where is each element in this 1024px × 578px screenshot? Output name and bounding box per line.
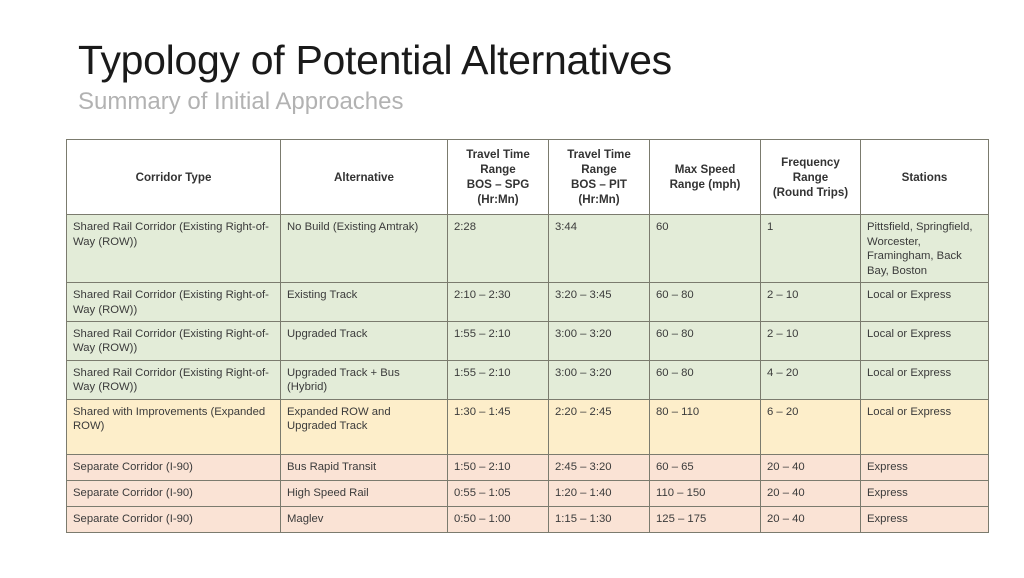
cell-max-speed: 60: [650, 215, 761, 283]
cell-alternative: Expanded ROW and Upgraded Track: [281, 399, 448, 454]
cell-corridor-type: Separate Corridor (I-90): [67, 480, 281, 506]
cell-max-speed: 60 – 80: [650, 360, 761, 399]
column-header-travel-time-bos-pit: Travel Time Range BOS – PIT (Hr:Mn): [549, 140, 650, 215]
table-header-row: Corridor Type Alternative Travel Time Ra…: [67, 140, 989, 215]
table-body: Shared Rail Corridor (Existing Right-of-…: [67, 215, 989, 533]
cell-max-speed: 110 – 150: [650, 480, 761, 506]
cell-frequency: 4 – 20: [761, 360, 861, 399]
table-header: Corridor Type Alternative Travel Time Ra…: [67, 140, 989, 215]
cell-travel-time-bos-spg: 0:55 – 1:05: [448, 480, 549, 506]
header-line: Travel Time: [553, 147, 645, 162]
column-header-alternative: Alternative: [281, 140, 448, 215]
header-line: Frequency: [765, 155, 856, 170]
table-row: Shared Rail Corridor (Existing Right-of-…: [67, 215, 989, 283]
cell-alternative: Upgraded Track + Bus (Hybrid): [281, 360, 448, 399]
header-line: Max Speed: [654, 162, 756, 177]
cell-travel-time-bos-spg: 2:28: [448, 215, 549, 283]
cell-alternative: High Speed Rail: [281, 480, 448, 506]
cell-corridor-type: Shared Rail Corridor (Existing Right-of-…: [67, 283, 281, 322]
cell-corridor-type: Separate Corridor (I-90): [67, 454, 281, 480]
header-line: BOS – SPG: [452, 177, 544, 192]
table-row: Shared Rail Corridor (Existing Right-of-…: [67, 360, 989, 399]
cell-stations: Express: [861, 454, 989, 480]
cell-stations: Local or Express: [861, 360, 989, 399]
page-title: Typology of Potential Alternatives: [78, 38, 672, 82]
header-line: BOS – PIT: [553, 177, 645, 192]
cell-stations: Local or Express: [861, 399, 989, 454]
cell-frequency: 2 – 10: [761, 321, 861, 360]
cell-travel-time-bos-spg: 1:30 – 1:45: [448, 399, 549, 454]
header-line: Range: [452, 162, 544, 177]
header-line: Range: [765, 170, 856, 185]
cell-alternative: No Build (Existing Amtrak): [281, 215, 448, 283]
cell-alternative: Upgraded Track: [281, 321, 448, 360]
header-line: Corridor Type: [71, 170, 276, 185]
column-header-stations: Stations: [861, 140, 989, 215]
cell-travel-time-bos-pit: 3:20 – 3:45: [549, 283, 650, 322]
table-row: Shared Rail Corridor (Existing Right-of-…: [67, 321, 989, 360]
table-row: Shared with Improvements (Expanded ROW) …: [67, 399, 989, 454]
header-line: Alternative: [285, 170, 443, 185]
header-line: Range (mph): [654, 177, 756, 192]
cell-corridor-type: Shared Rail Corridor (Existing Right-of-…: [67, 321, 281, 360]
header-line: (Hr:Mn): [452, 192, 544, 207]
cell-stations: Express: [861, 480, 989, 506]
header-line: (Hr:Mn): [553, 192, 645, 207]
cell-stations: Local or Express: [861, 283, 989, 322]
cell-max-speed: 80 – 110: [650, 399, 761, 454]
cell-travel-time-bos-pit: 2:45 – 3:20: [549, 454, 650, 480]
cell-corridor-type: Shared Rail Corridor (Existing Right-of-…: [67, 215, 281, 283]
cell-max-speed: 60 – 80: [650, 283, 761, 322]
column-header-max-speed: Max Speed Range (mph): [650, 140, 761, 215]
cell-travel-time-bos-spg: 1:55 – 2:10: [448, 321, 549, 360]
slide: Typology of Potential Alternatives Summa…: [0, 0, 1024, 578]
cell-frequency: 2 – 10: [761, 283, 861, 322]
typology-table-container: Corridor Type Alternative Travel Time Ra…: [66, 139, 988, 533]
cell-max-speed: 60 – 80: [650, 321, 761, 360]
cell-corridor-type: Shared Rail Corridor (Existing Right-of-…: [67, 360, 281, 399]
cell-travel-time-bos-pit: 1:20 – 1:40: [549, 480, 650, 506]
table-row: Separate Corridor (I-90) High Speed Rail…: [67, 480, 989, 506]
cell-corridor-type: Shared with Improvements (Expanded ROW): [67, 399, 281, 454]
cell-frequency: 1: [761, 215, 861, 283]
cell-stations: Pittsfield, Springfield, Worcester, Fram…: [861, 215, 989, 283]
column-header-corridor-type: Corridor Type: [67, 140, 281, 215]
header-line: Stations: [865, 170, 984, 185]
cell-alternative: Existing Track: [281, 283, 448, 322]
cell-travel-time-bos-spg: 2:10 – 2:30: [448, 283, 549, 322]
column-header-frequency: Frequency Range (Round Trips): [761, 140, 861, 215]
cell-frequency: 20 – 40: [761, 454, 861, 480]
cell-travel-time-bos-pit: 2:20 – 2:45: [549, 399, 650, 454]
cell-travel-time-bos-spg: 1:55 – 2:10: [448, 360, 549, 399]
title-block: Typology of Potential Alternatives Summa…: [78, 38, 672, 117]
typology-table: Corridor Type Alternative Travel Time Ra…: [66, 139, 989, 533]
table-row: Shared Rail Corridor (Existing Right-of-…: [67, 283, 989, 322]
header-line: Travel Time: [452, 147, 544, 162]
cell-travel-time-bos-pit: 3:00 – 3:20: [549, 321, 650, 360]
slide-footer: EAST WEST All Time, Speed, Frequency, an…: [0, 528, 1024, 578]
cell-travel-time-bos-pit: 3:00 – 3:20: [549, 360, 650, 399]
cell-travel-time-bos-pit: 3:44: [549, 215, 650, 283]
header-line: (Round Trips): [765, 185, 856, 200]
cell-frequency: 6 – 20: [761, 399, 861, 454]
cell-travel-time-bos-spg: 1:50 – 2:10: [448, 454, 549, 480]
cell-stations: Local or Express: [861, 321, 989, 360]
header-line: Range: [553, 162, 645, 177]
table-row: Separate Corridor (I-90) Bus Rapid Trans…: [67, 454, 989, 480]
cell-frequency: 20 – 40: [761, 480, 861, 506]
cell-alternative: Bus Rapid Transit: [281, 454, 448, 480]
cell-max-speed: 60 – 65: [650, 454, 761, 480]
page-subtitle: Summary of Initial Approaches: [78, 88, 672, 117]
column-header-travel-time-bos-spg: Travel Time Range BOS – SPG (Hr:Mn): [448, 140, 549, 215]
